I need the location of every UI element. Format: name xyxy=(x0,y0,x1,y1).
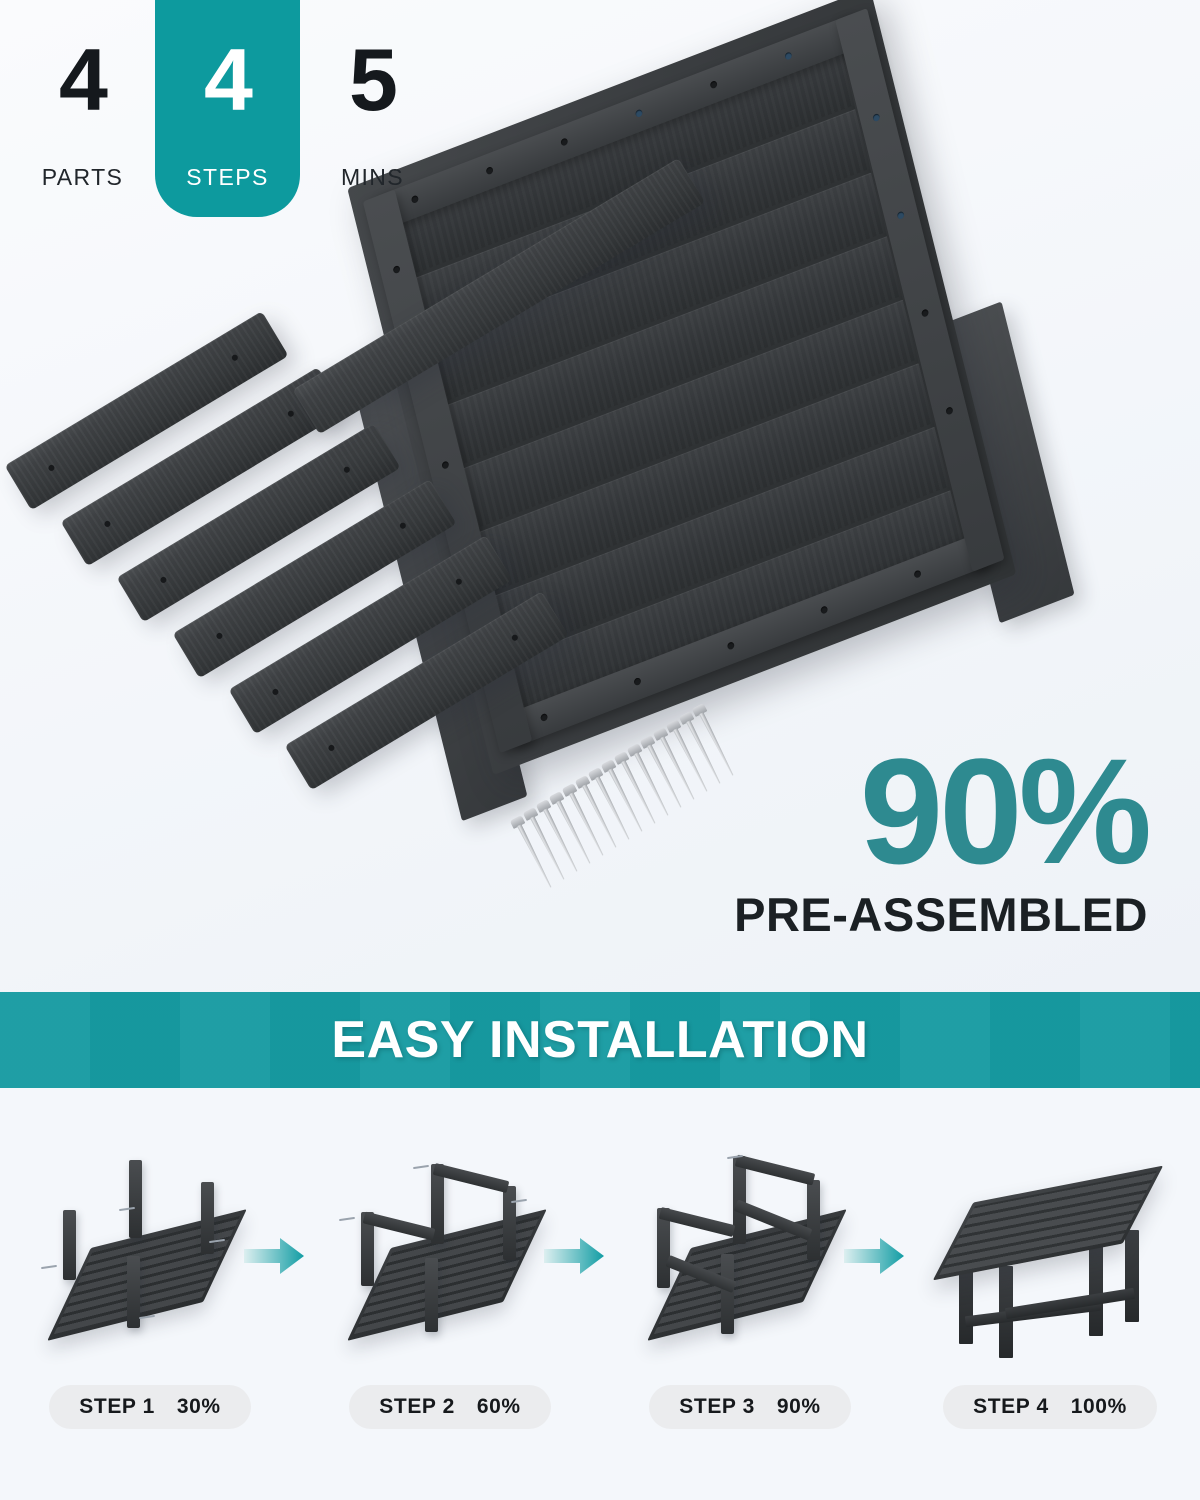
table-leg xyxy=(1125,1230,1139,1322)
step-4-illustration xyxy=(935,1148,1165,1358)
assembly-tick xyxy=(41,1265,57,1269)
step-2-label-cell: STEP 2 60% xyxy=(300,1384,600,1430)
step-4-cell xyxy=(900,1118,1200,1388)
stat-mins-number: 5 xyxy=(349,36,396,124)
tabletop-underside xyxy=(47,1209,247,1341)
leg-post xyxy=(503,1186,516,1260)
step-4-badge: STEP 4 100% xyxy=(943,1385,1157,1429)
arrow-right-icon xyxy=(844,1236,906,1276)
stat-parts-number: 4 xyxy=(59,36,106,124)
pre-assembled-callout: 90% PRE-ASSEMBLED xyxy=(734,740,1148,942)
leg-post xyxy=(721,1254,734,1334)
table-leg xyxy=(1089,1244,1103,1336)
step-illustrations-row xyxy=(0,1118,1200,1388)
step-4-percent: 100% xyxy=(1071,1395,1127,1419)
stat-parts-label: PARTS xyxy=(42,164,124,191)
arrow-right-icon xyxy=(544,1236,606,1276)
assembly-tick xyxy=(339,1217,355,1221)
easy-installation-banner: EASY INSTALLATION xyxy=(0,992,1200,1088)
step-1-percent: 30% xyxy=(177,1395,221,1419)
assembly-tick xyxy=(413,1165,429,1169)
hero-section: 4 PARTS 4 STEPS 5 MINS 90% PRE-ASSEMBLED xyxy=(0,0,1200,992)
stat-steps-label: STEPS xyxy=(186,164,268,191)
steps-section: STEP 1 30% STEP 2 60% STEP 3 90% STEP 4 xyxy=(0,1088,1200,1500)
step-4-label: STEP 4 xyxy=(973,1395,1049,1419)
stats-row: 4 PARTS 4 STEPS 5 MINS xyxy=(0,0,430,230)
step-3-cell xyxy=(600,1118,900,1388)
step-3-badge: STEP 3 90% xyxy=(649,1385,850,1429)
step-3-illustration xyxy=(635,1148,865,1358)
side-rail xyxy=(659,1207,736,1237)
leg-post xyxy=(807,1180,820,1260)
step-3-percent: 90% xyxy=(777,1395,821,1419)
step-2-illustration xyxy=(335,1148,565,1358)
arrow-right-icon xyxy=(244,1236,306,1276)
step-3-label: STEP 3 xyxy=(679,1395,755,1419)
step-1-label: STEP 1 xyxy=(79,1395,155,1419)
step-1-illustration xyxy=(35,1148,265,1358)
step-2-percent: 60% xyxy=(477,1395,521,1419)
step-1-badge: STEP 1 30% xyxy=(49,1385,250,1429)
stat-steps: 4 STEPS xyxy=(155,0,300,217)
stat-mins: 5 MINS xyxy=(300,0,445,200)
leg-post xyxy=(63,1210,76,1280)
step-2-label: STEP 2 xyxy=(379,1395,455,1419)
stat-steps-number: 4 xyxy=(204,36,251,124)
tabletop-underside xyxy=(347,1209,547,1341)
screws-group xyxy=(505,700,705,860)
infographic-page: 4 PARTS 4 STEPS 5 MINS 90% PRE-ASSEMBLED… xyxy=(0,0,1200,1500)
step-2-badge: STEP 2 60% xyxy=(349,1385,550,1429)
side-rail xyxy=(735,1155,816,1186)
leg-post xyxy=(129,1160,142,1238)
leg-post xyxy=(201,1182,214,1254)
step-labels-row: STEP 1 30% STEP 2 60% STEP 3 90% STEP 4 xyxy=(0,1384,1200,1430)
leg-post xyxy=(425,1258,438,1332)
step-1-label-cell: STEP 1 30% xyxy=(0,1384,300,1430)
stat-mins-label: MINS xyxy=(341,164,404,191)
stat-parts: 4 PARTS xyxy=(10,0,155,200)
banner-title: EASY INSTALLATION xyxy=(331,1010,868,1070)
step-4-label-cell: STEP 4 100% xyxy=(900,1384,1200,1430)
pre-assembled-percent: 90% xyxy=(734,740,1148,883)
step-3-label-cell: STEP 3 90% xyxy=(600,1384,900,1430)
pre-assembled-caption: PRE-ASSEMBLED xyxy=(734,887,1148,942)
step-2-cell xyxy=(300,1118,600,1388)
step-1-cell xyxy=(0,1118,300,1388)
side-rail xyxy=(433,1163,510,1193)
